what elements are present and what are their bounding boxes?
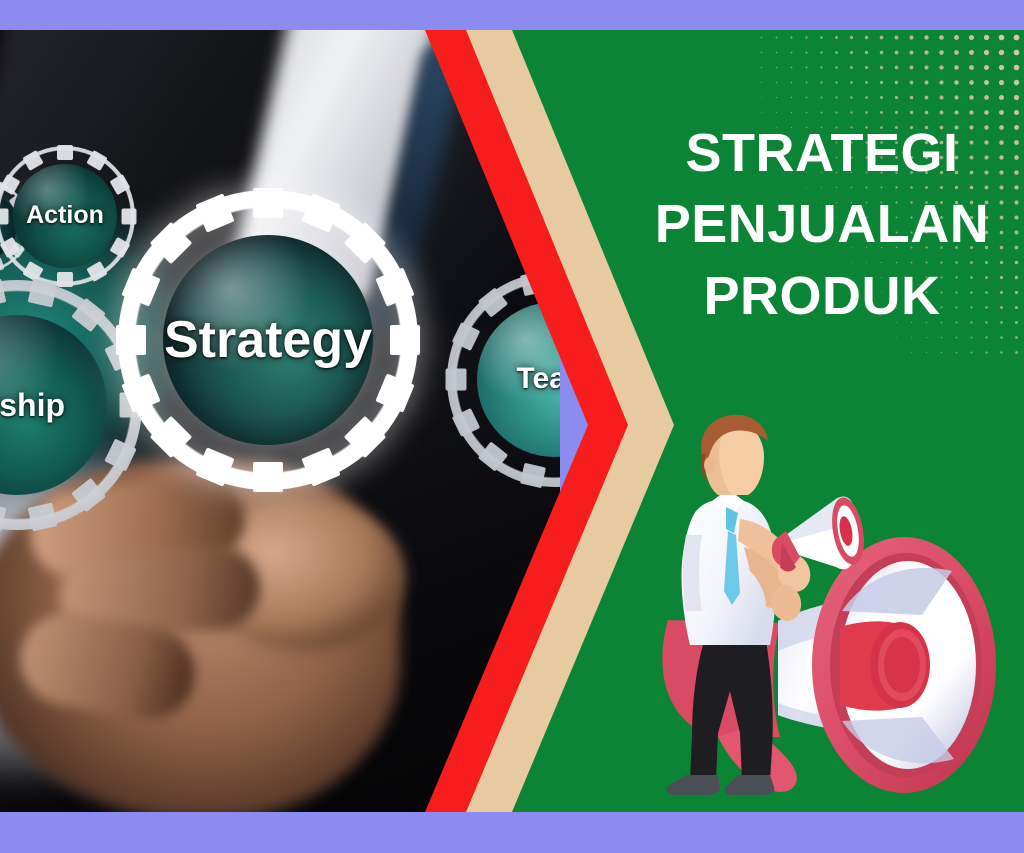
- gear-action-icon: Action: [0, 146, 135, 286]
- businessman-megaphone-illustration: [660, 415, 1000, 805]
- frame-bar-bottom: [0, 812, 1024, 853]
- gear-label-strategy: Strategy: [164, 310, 372, 370]
- gear-label-action: Action: [26, 201, 104, 230]
- gear-label-team: Team: [516, 362, 560, 396]
- gear-label-leadership: ership: [0, 387, 65, 424]
- poster-canvas: Action ership Team: [0, 0, 1024, 853]
- page-title: STRATEGI PENJUALAN PRODUK: [620, 118, 1024, 332]
- title-line-3: PRODUK: [620, 261, 1024, 332]
- frame-bar-top: [0, 0, 1024, 30]
- title-line-2: PENJUALAN: [620, 189, 1024, 260]
- title-line-1: STRATEGI: [620, 118, 1024, 189]
- poster-stage: Action ership Team: [0, 30, 1024, 812]
- gear-sphere: Strategy: [163, 235, 373, 445]
- gear-sphere: Action: [13, 164, 117, 268]
- gear-strategy-icon: Strategy: [118, 190, 418, 490]
- businessman-figure: [667, 415, 816, 795]
- handheld-megaphone: [772, 495, 869, 572]
